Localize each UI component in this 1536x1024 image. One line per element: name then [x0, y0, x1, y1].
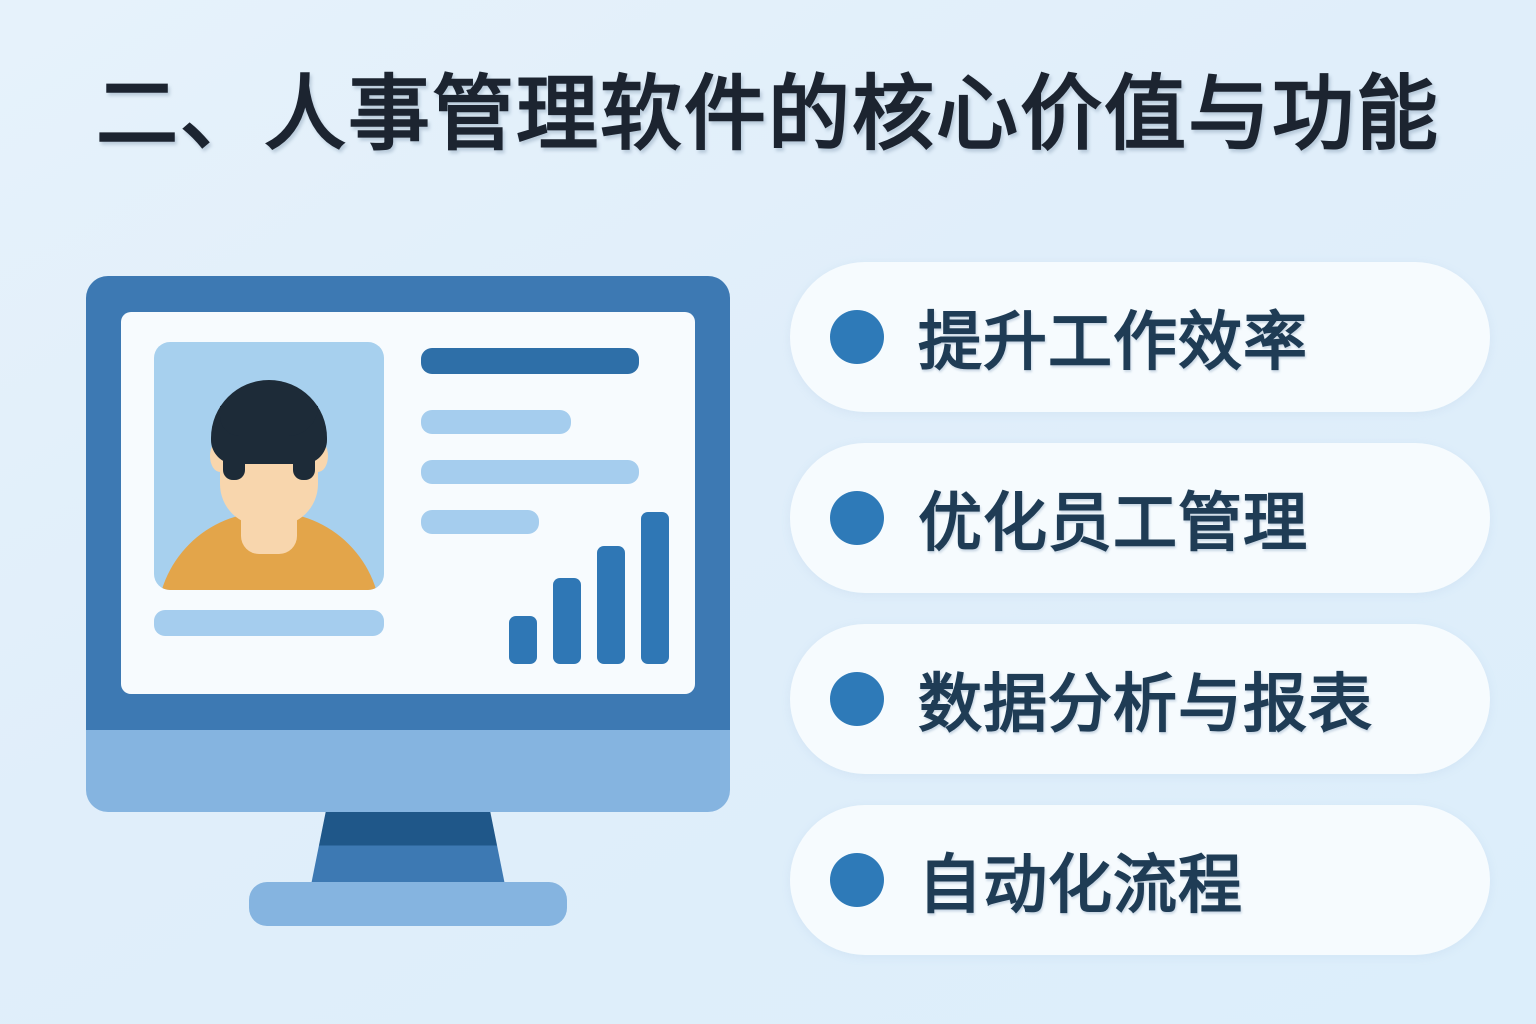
monitor-base	[249, 882, 567, 926]
monitor-screen	[121, 312, 695, 694]
slide-canvas: 二、人事管理软件的核心价值与功能 提升工作效率优化员工管理数据分析与报表自动化流…	[0, 0, 1536, 1024]
monitor-stand	[310, 812, 506, 890]
monitor-illustration	[86, 276, 730, 904]
feature-card-label: 提升工作效率	[918, 291, 1308, 383]
chart-bar-3	[597, 546, 625, 664]
employee-detail-bar-1	[421, 410, 571, 434]
chart-bar-2	[553, 578, 581, 664]
mini-bar-chart	[509, 512, 669, 664]
employee-footer-bar	[154, 610, 384, 636]
chart-bar-1	[509, 616, 537, 664]
feature-card-automation[interactable]: 自动化流程	[790, 805, 1490, 955]
bullet-dot-icon	[830, 491, 884, 545]
bullet-dot-icon	[830, 853, 884, 907]
feature-card-label: 优化员工管理	[918, 472, 1308, 564]
feature-card-employee-management[interactable]: 优化员工管理	[790, 443, 1490, 593]
employee-name-bar	[421, 348, 639, 374]
avatar-fringe-icon	[220, 406, 318, 436]
monitor-chin	[86, 730, 730, 812]
page-title: 二、人事管理软件的核心价值与功能	[0, 74, 1536, 156]
feature-card-efficiency[interactable]: 提升工作效率	[790, 262, 1490, 412]
feature-card-analytics-reports[interactable]: 数据分析与报表	[790, 624, 1490, 774]
employee-avatar	[154, 342, 384, 590]
employee-detail-bar-2	[421, 460, 639, 484]
bullet-dot-icon	[830, 672, 884, 726]
feature-card-list: 提升工作效率优化员工管理数据分析与报表自动化流程	[790, 262, 1490, 962]
feature-card-label: 自动化流程	[918, 834, 1243, 926]
chart-bar-4	[641, 512, 669, 664]
feature-card-label: 数据分析与报表	[918, 653, 1373, 745]
bullet-dot-icon	[830, 310, 884, 364]
